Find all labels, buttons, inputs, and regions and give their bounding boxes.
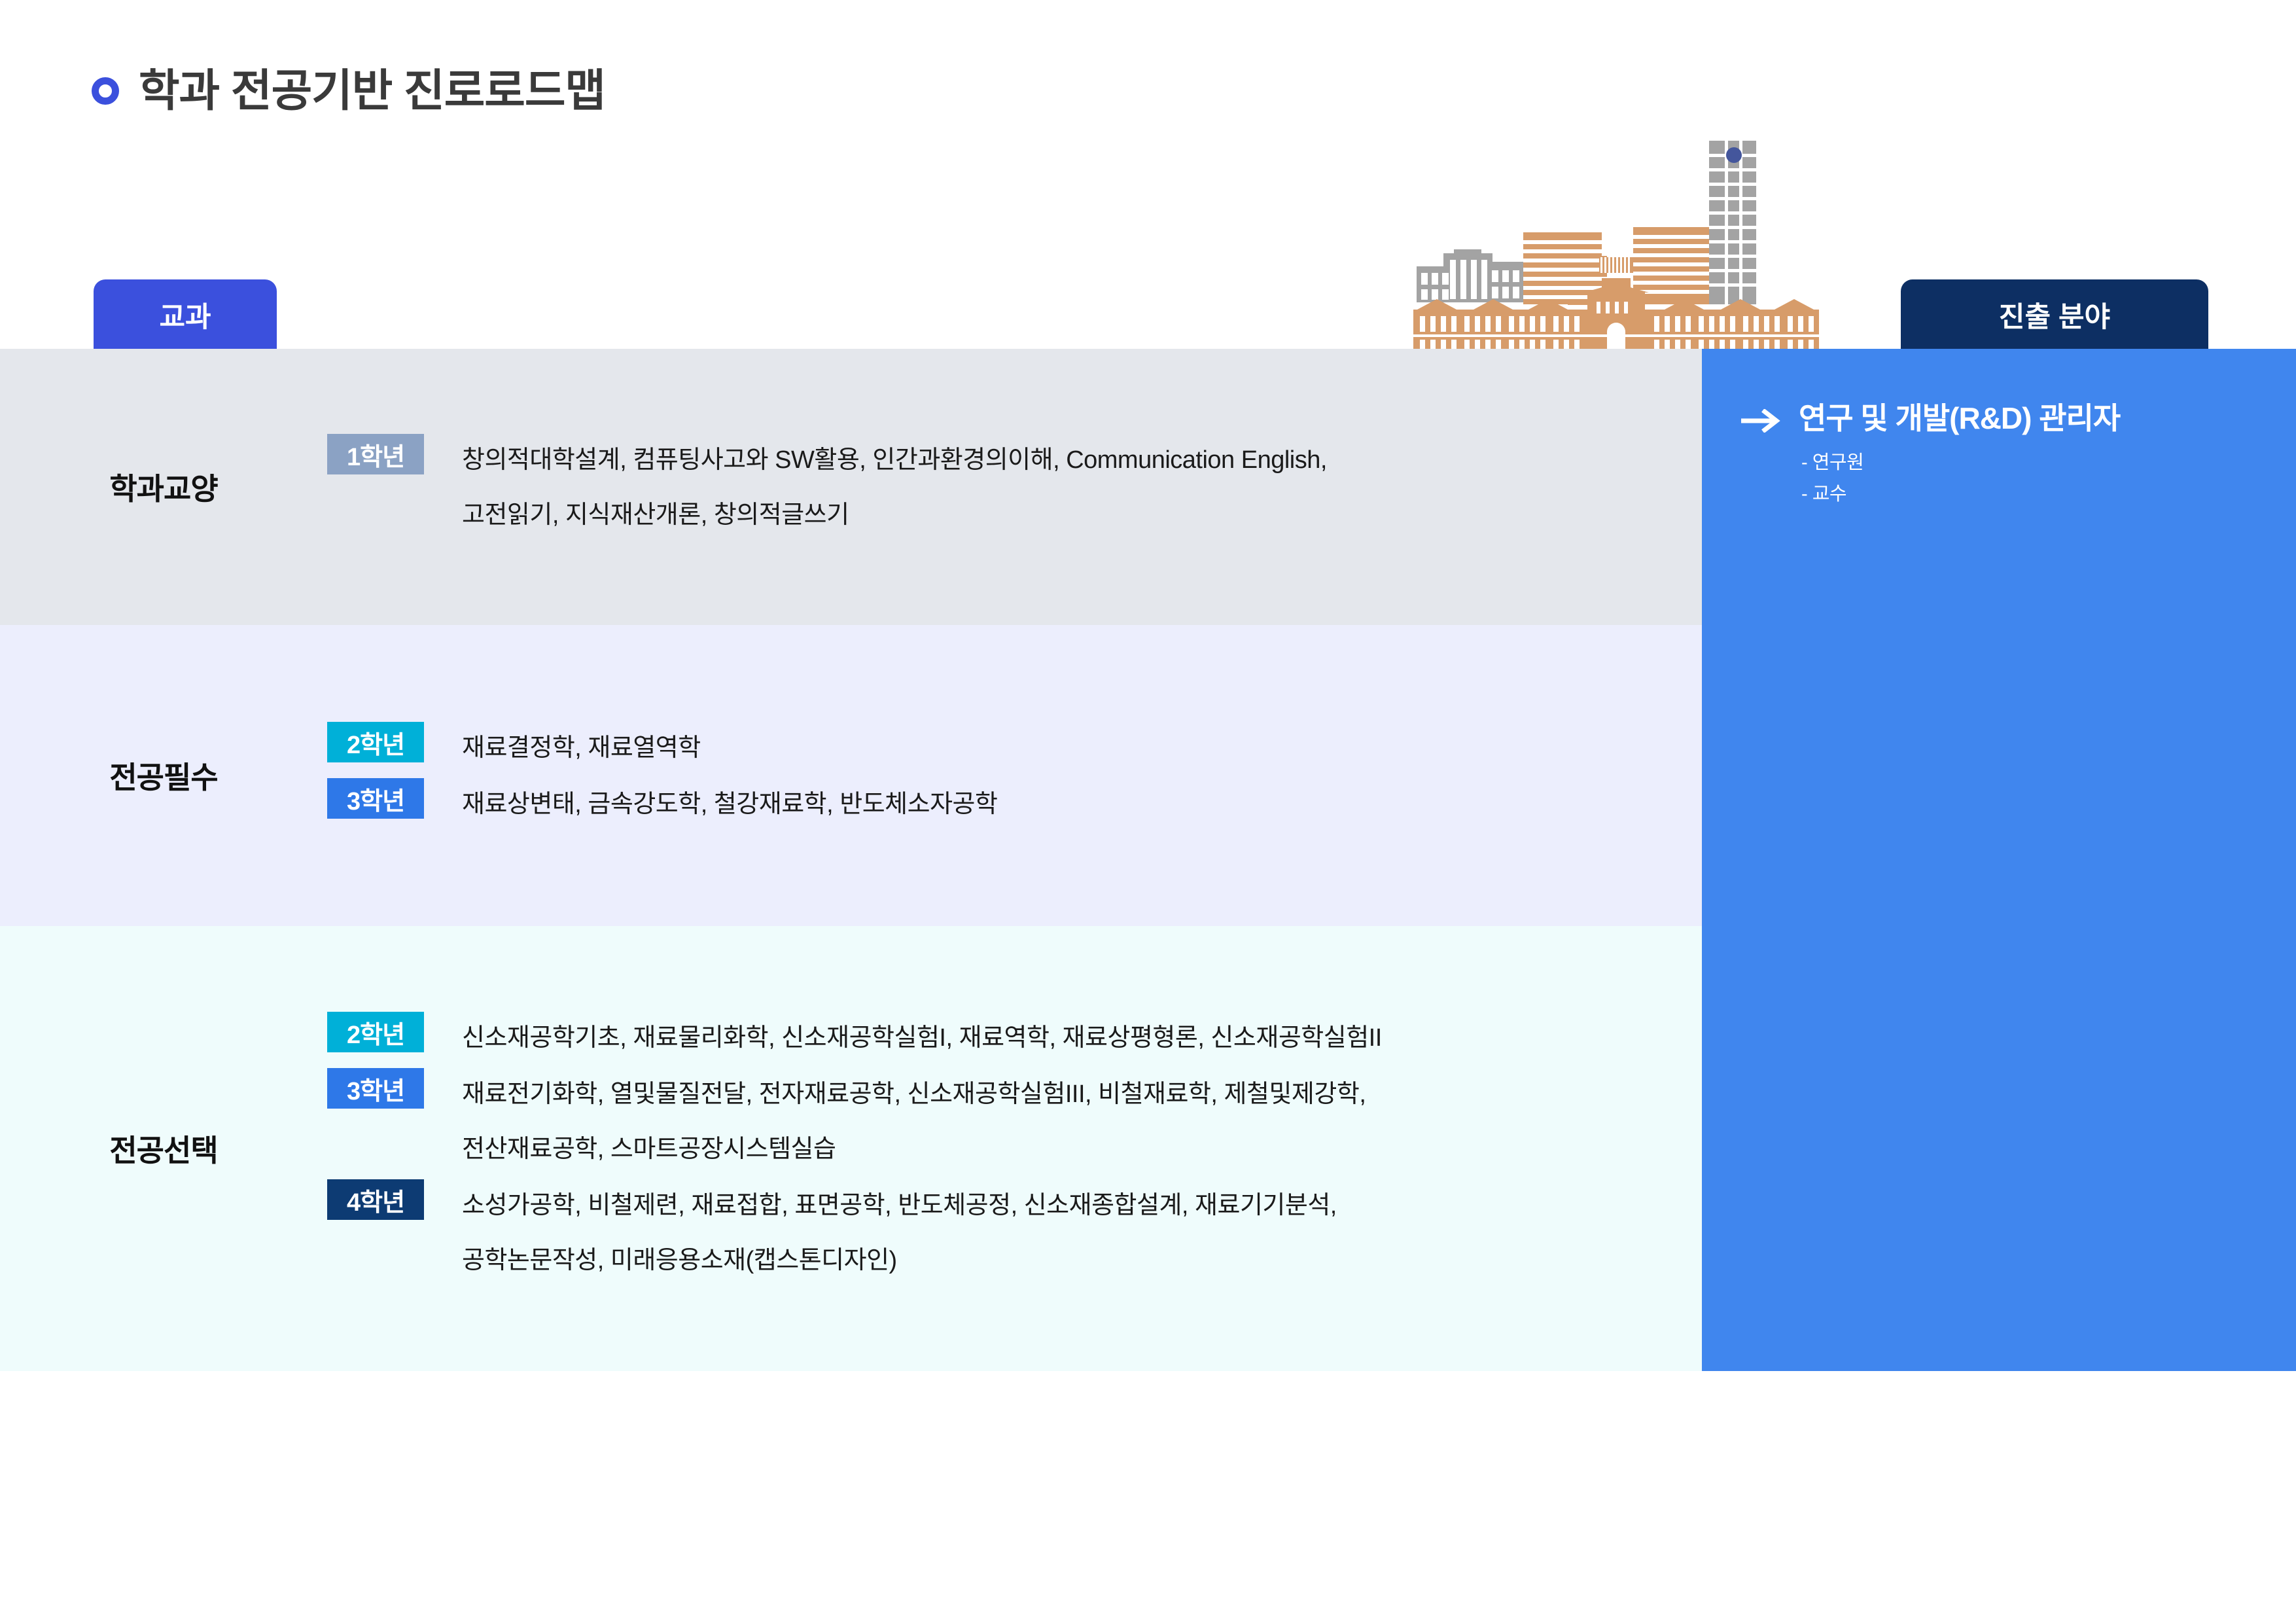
row-label: 전공필수 — [0, 754, 327, 797]
page-title-group: 학과 전공기반 진로로드맵 — [92, 69, 605, 113]
career-sub-item: - 교수 — [1801, 478, 2296, 510]
tab-career-field-label: 진출 분야 — [1999, 294, 2110, 335]
tab-curriculum-label: 교과 — [159, 294, 211, 335]
grade-group: 4학년 소성가공학, 비철제련, 재료접합, 표면공학, 반도체공정, 신소재종… — [327, 1177, 1688, 1288]
grade-badge[interactable]: 2학년 — [327, 722, 424, 762]
course-line: 소성가공학, 비철제련, 재료접합, 표면공학, 반도체공정, 신소재종합설계,… — [462, 1178, 1337, 1233]
curriculum-row: 학과교양 1학년 창의적대학설계, 컴퓨팅사고와 SW활용, 인간과환경의이해,… — [0, 349, 1702, 625]
tab-career-field[interactable]: 진출 분야 — [1901, 279, 2208, 349]
curriculum-rows: 학과교양 1학년 창의적대학설계, 컴퓨팅사고와 SW활용, 인간과환경의이해,… — [0, 349, 1702, 1371]
career-item-header: 연구 및 개발(R&D) 관리자 — [1741, 395, 2296, 438]
row-grade-groups: 1학년 창의적대학설계, 컴퓨팅사고와 SW활용, 인간과환경의이해, Comm… — [327, 431, 1688, 543]
curriculum-row: 전공선택 2학년 신소재공학기초, 재료물리화학, 신소재공학실험I, 재료역학… — [0, 926, 1702, 1371]
course-list: 재료상변태, 금속강도학, 철강재료학, 반도체소자공학 — [462, 776, 997, 832]
career-item-title: 연구 및 개발(R&D) 관리자 — [1799, 395, 2120, 438]
course-line: 재료전기화학, 열및물질전달, 전자재료공학, 신소재공학실험III, 비철재료… — [462, 1067, 1366, 1122]
roadmap-page: 학과 전공기반 진로로드맵 — [0, 0, 2296, 1623]
career-item: 연구 및 개발(R&D) 관리자 - 연구원 - 교수 — [1702, 395, 2296, 510]
row-grade-groups: 2학년 신소재공학기초, 재료물리화학, 신소재공학실험I, 재료역학, 재료상… — [327, 1009, 1688, 1288]
course-line: 재료상변태, 금속강도학, 철강재료학, 반도체소자공학 — [462, 777, 997, 832]
row-label: 학과교양 — [0, 465, 327, 508]
course-list: 소성가공학, 비철제련, 재료접합, 표면공학, 반도체공정, 신소재종합설계,… — [462, 1177, 1337, 1288]
course-list: 창의적대학설계, 컴퓨팅사고와 SW활용, 인간과환경의이해, Communic… — [462, 431, 1327, 543]
course-line: 전산재료공학, 스마트공장시스템실습 — [462, 1122, 1366, 1177]
campus-skyline-illustration — [1413, 128, 1819, 353]
course-line: 재료결정학, 재료열역학 — [462, 721, 701, 776]
grade-group: 3학년 재료전기화학, 열및물질전달, 전자재료공학, 신소재공학실험III, … — [327, 1065, 1688, 1177]
grade-badge[interactable]: 4학년 — [327, 1179, 424, 1220]
page-title: 학과 전공기반 진로로드맵 — [139, 69, 605, 113]
grade-badge[interactable]: 2학년 — [327, 1012, 424, 1052]
arrow-right-icon — [1741, 404, 1782, 428]
grade-group: 3학년 재료상변태, 금속강도학, 철강재료학, 반도체소자공학 — [327, 776, 1688, 832]
career-sub-list: - 연구원 - 교수 — [1741, 447, 2296, 510]
career-sub-item: - 연구원 — [1801, 447, 2296, 478]
grade-group: 2학년 재료결정학, 재료열역학 — [327, 719, 1688, 776]
grade-badge[interactable]: 1학년 — [327, 434, 424, 474]
row-grade-groups: 2학년 재료결정학, 재료열역학 3학년 재료상변태, 금속강도학, 철강재료학… — [327, 719, 1688, 832]
curriculum-row: 전공필수 2학년 재료결정학, 재료열역학 3학년 재료상변태, 금속강도학, … — [0, 625, 1702, 926]
grade-badge[interactable]: 3학년 — [327, 1068, 424, 1109]
course-list: 재료전기화학, 열및물질전달, 전자재료공학, 신소재공학실험III, 비철재료… — [462, 1065, 1366, 1177]
course-list: 신소재공학기초, 재료물리화학, 신소재공학실험I, 재료역학, 재료상평형론,… — [462, 1009, 1382, 1065]
course-line: 공학논문작성, 미래응용소재(캡스톤디자인) — [462, 1233, 1337, 1288]
grade-group: 1학년 창의적대학설계, 컴퓨팅사고와 SW활용, 인간과환경의이해, Comm… — [327, 431, 1688, 543]
grade-group: 2학년 신소재공학기초, 재료물리화학, 신소재공학실험I, 재료역학, 재료상… — [327, 1009, 1688, 1065]
grade-badge[interactable]: 3학년 — [327, 778, 424, 819]
row-label: 전공선택 — [0, 1127, 327, 1170]
course-list: 재료결정학, 재료열역학 — [462, 719, 701, 776]
career-field-panel: 연구 및 개발(R&D) 관리자 - 연구원 - 교수 — [1702, 349, 2296, 1371]
course-line: 고전읽기, 지식재산개론, 창의적글쓰기 — [462, 488, 1327, 543]
circle-outline-icon — [92, 77, 119, 105]
course-line: 창의적대학설계, 컴퓨팅사고와 SW활용, 인간과환경의이해, Communic… — [462, 433, 1327, 488]
course-line: 신소재공학기초, 재료물리화학, 신소재공학실험I, 재료역학, 재료상평형론,… — [462, 1010, 1382, 1065]
tab-curriculum[interactable]: 교과 — [94, 279, 277, 349]
